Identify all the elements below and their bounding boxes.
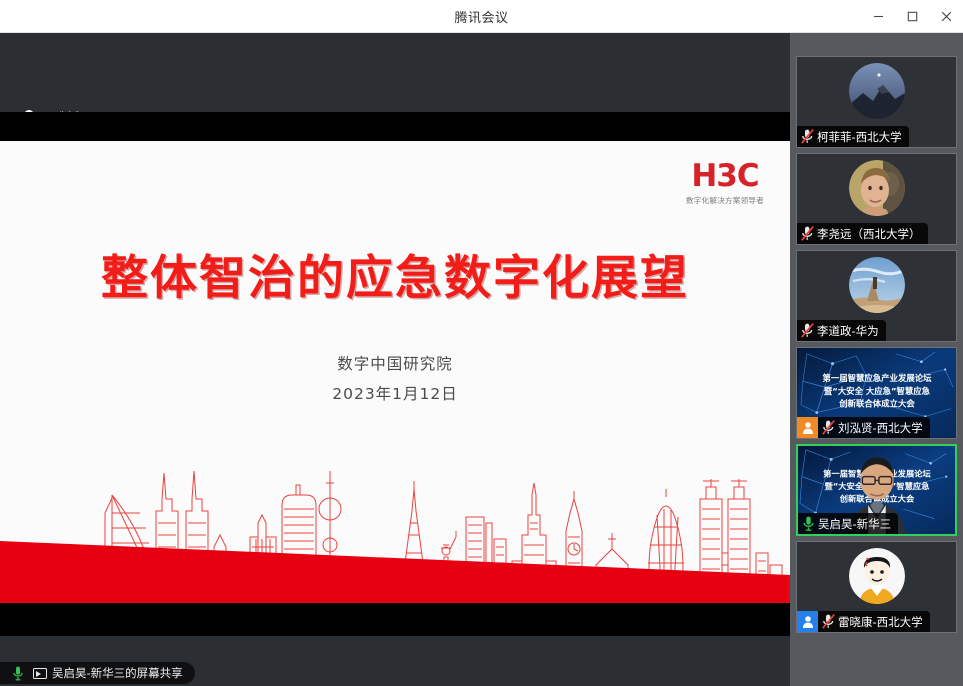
- screen-share-icon: [33, 668, 47, 679]
- minimize-button[interactable]: [861, 0, 895, 33]
- avatar: [849, 160, 905, 216]
- minimize-icon: [873, 11, 884, 22]
- shared-screen-stage[interactable]: 录制中 H3C 数字化解决方案领导者 整体智治的应急数字化展望 数字中国研究院 …: [0, 33, 790, 686]
- participant-namebar: 李尧远（西北大学）: [797, 223, 928, 244]
- h3c-wordmark: H3C: [686, 161, 764, 192]
- participant-namebar: 雷晓康-西北大学: [797, 611, 930, 632]
- participant-name: 吴启昊-新华三: [818, 516, 891, 532]
- close-icon: [941, 11, 952, 22]
- mountain-night-photo-icon: [849, 63, 905, 119]
- skyline-graphic: [0, 453, 790, 603]
- titlebar: 腾讯会议: [0, 0, 963, 33]
- letterbox-bottom: [0, 603, 790, 636]
- mic-muted-icon: [797, 320, 817, 341]
- h3c-tagline: 数字化解决方案领导者: [686, 195, 764, 206]
- avatar: [849, 257, 905, 313]
- mic-muted-icon: [797, 223, 817, 244]
- window-title: 腾讯会议: [454, 7, 508, 26]
- avatar: [849, 548, 905, 604]
- close-button[interactable]: [929, 0, 963, 33]
- slide-title: 整体智治的应急数字化展望: [0, 239, 790, 308]
- participant-tile[interactable]: 第一届智慧应急产业发展论坛 暨“大安全 大应急”智慧应急 创新联合体成立大会: [796, 444, 957, 536]
- orange-person-icon: [797, 417, 818, 438]
- h3c-logo: H3C 数字化解决方案领导者: [686, 161, 764, 206]
- cartoon-boy-illustration-icon: [849, 548, 905, 604]
- participant-tile[interactable]: 雷晓康-西北大学: [796, 541, 957, 633]
- participant-tile[interactable]: 柯菲菲-西北大学: [796, 56, 957, 148]
- window-controls: [861, 0, 963, 33]
- blue-person-icon: [797, 611, 818, 632]
- participant-name: 雷晓康-西北大学: [838, 614, 923, 630]
- participant-name: 李道政-华为: [817, 323, 879, 339]
- skyline-svg: [0, 453, 790, 603]
- presentation-slide: H3C 数字化解决方案领导者 整体智治的应急数字化展望 数字中国研究院 2023…: [0, 141, 790, 603]
- mic-muted-icon: [797, 126, 817, 147]
- slide-subtitle-line-1: 数字中国研究院: [0, 349, 790, 379]
- letterbox-top: [0, 112, 790, 141]
- share-status-label: 吴启昊-新华三的屏幕共享: [52, 665, 183, 681]
- share-status-pill: 吴启昊-新华三的屏幕共享: [0, 662, 195, 684]
- maximize-icon: [907, 11, 918, 22]
- participant-namebar: 刘泓贤-西北大学: [797, 417, 930, 438]
- participant-name: 柯菲菲-西北大学: [817, 129, 902, 145]
- mic-unmuted-icon: [798, 513, 818, 534]
- participant-namebar: 柯菲菲-西北大学: [797, 126, 909, 147]
- svg-text:第一届智慧应急产业发展论坛: 第一届智慧应急产业发展论坛: [823, 373, 933, 383]
- microphone-icon: [8, 663, 28, 684]
- slide-subtitle-line-2: 2023年1月12日: [0, 379, 790, 409]
- man-portrait-photo-icon: [849, 160, 905, 216]
- svg-text:暨“大安全 大应急”智慧应急: 暨“大安全 大应急”智慧应急: [824, 386, 931, 396]
- mic-muted-icon: [818, 611, 838, 632]
- maximize-button[interactable]: [895, 0, 929, 33]
- desert-sky-photo-icon: [849, 257, 905, 313]
- mic-muted-icon: [818, 417, 838, 438]
- participant-namebar: 李道政-华为: [797, 320, 886, 341]
- avatar: [849, 63, 905, 119]
- participant-name: 李尧远（西北大学）: [817, 226, 921, 242]
- tencent-meeting-window: 腾讯会议: [0, 0, 963, 686]
- recording-bar: [0, 33, 790, 112]
- participant-tile[interactable]: 李尧远（西北大学）: [796, 153, 957, 245]
- participant-tile[interactable]: 第一届智慧应急产业发展论坛 暨“大安全 大应急”智慧应急 创新联合体成立大会: [796, 347, 957, 439]
- participant-namebar: 吴启昊-新华三: [798, 513, 898, 534]
- svg-text:创新联合体成立大会: 创新联合体成立大会: [838, 399, 915, 409]
- participant-tile[interactable]: 李道政-华为: [796, 250, 957, 342]
- participant-name: 刘泓贤-西北大学: [838, 420, 923, 436]
- participant-sidebar[interactable]: 柯菲菲-西北大学: [790, 33, 963, 686]
- slide-subtitle: 数字中国研究院 2023年1月12日: [0, 349, 790, 409]
